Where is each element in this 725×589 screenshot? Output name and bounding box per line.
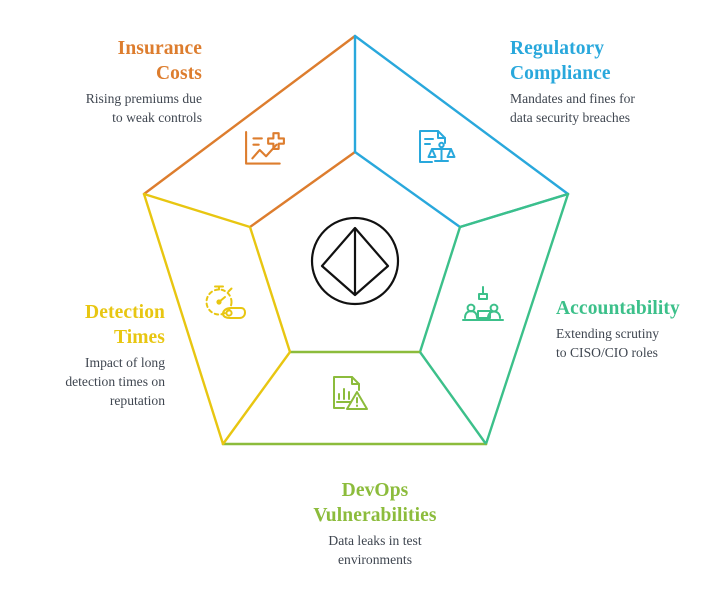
document-chart-warning-icon bbox=[334, 377, 367, 409]
label-title-line2: Costs bbox=[156, 63, 202, 84]
label-title-regulatory-compliance: Regulatory Compliance bbox=[510, 36, 710, 86]
label-sub-line2: environments bbox=[338, 552, 412, 567]
label-title-line1: Insurance bbox=[118, 38, 202, 59]
center-emblem bbox=[312, 218, 398, 304]
label-title-line1: Regulatory bbox=[510, 38, 604, 59]
label-sub-line1: Impact of long bbox=[85, 355, 165, 370]
label-title-insurance-costs: Insurance Costs bbox=[20, 36, 202, 86]
document-with-scales-icon bbox=[420, 131, 455, 162]
label-subtitle-detection-times: Impact of long detection times on reputa… bbox=[10, 350, 165, 410]
stopwatch-whistle-icon bbox=[207, 287, 246, 319]
label-subtitle-devops-vulnerabilities: Data leaks in test environments bbox=[245, 528, 505, 569]
label-title-line2: Compliance bbox=[510, 63, 611, 84]
pentagon-diagram: Insurance Costs Rising premiums due to w… bbox=[0, 0, 725, 589]
label-title-line1: Accountability bbox=[556, 298, 680, 319]
label-title-devops-vulnerabilities: DevOps Vulnerabilities bbox=[245, 478, 505, 528]
label-sub-line2: detection times on bbox=[65, 374, 165, 389]
label-regulatory-compliance: Regulatory Compliance Mandates and fines… bbox=[510, 36, 710, 127]
label-accountability: Accountability Extending scrutiny to CIS… bbox=[556, 296, 721, 362]
people-at-bench-icon bbox=[463, 287, 503, 320]
label-sub-line1: Data leaks in test bbox=[328, 533, 421, 548]
label-subtitle-accountability: Extending scrutiny to CISO/CIO roles bbox=[556, 321, 721, 362]
label-title-detection-times: Detection Times bbox=[10, 300, 165, 350]
divider-accountability-devops bbox=[420, 352, 486, 444]
label-sub-line1: Extending scrutiny bbox=[556, 326, 659, 341]
label-title-line2: Times bbox=[114, 327, 165, 348]
label-sub-line1: Mandates and fines for bbox=[510, 91, 635, 106]
label-title-line1: DevOps bbox=[342, 480, 409, 501]
label-title-line2: Vulnerabilities bbox=[313, 505, 436, 526]
label-subtitle-insurance-costs: Rising premiums due to weak controls bbox=[20, 86, 202, 127]
label-insurance-costs: Insurance Costs Rising premiums due to w… bbox=[20, 36, 202, 127]
chart-with-medical-cross-icon bbox=[246, 132, 284, 164]
label-sub-line2: to CISO/CIO roles bbox=[556, 345, 658, 360]
label-sub-line1: Rising premiums due bbox=[86, 91, 202, 106]
segment-detection-times[interactable] bbox=[144, 194, 290, 444]
label-subtitle-regulatory-compliance: Mandates and fines for data security bre… bbox=[510, 86, 710, 127]
label-title-accountability: Accountability bbox=[556, 296, 721, 321]
label-sub-line2: data security breaches bbox=[510, 110, 630, 125]
label-devops-vulnerabilities: DevOps Vulnerabilities Data leaks in tes… bbox=[245, 478, 505, 569]
label-sub-line3: reputation bbox=[110, 393, 165, 408]
label-title-line1: Detection bbox=[85, 302, 165, 323]
label-detection-times: Detection Times Impact of long detection… bbox=[10, 300, 165, 410]
label-sub-line2: to weak controls bbox=[112, 110, 202, 125]
